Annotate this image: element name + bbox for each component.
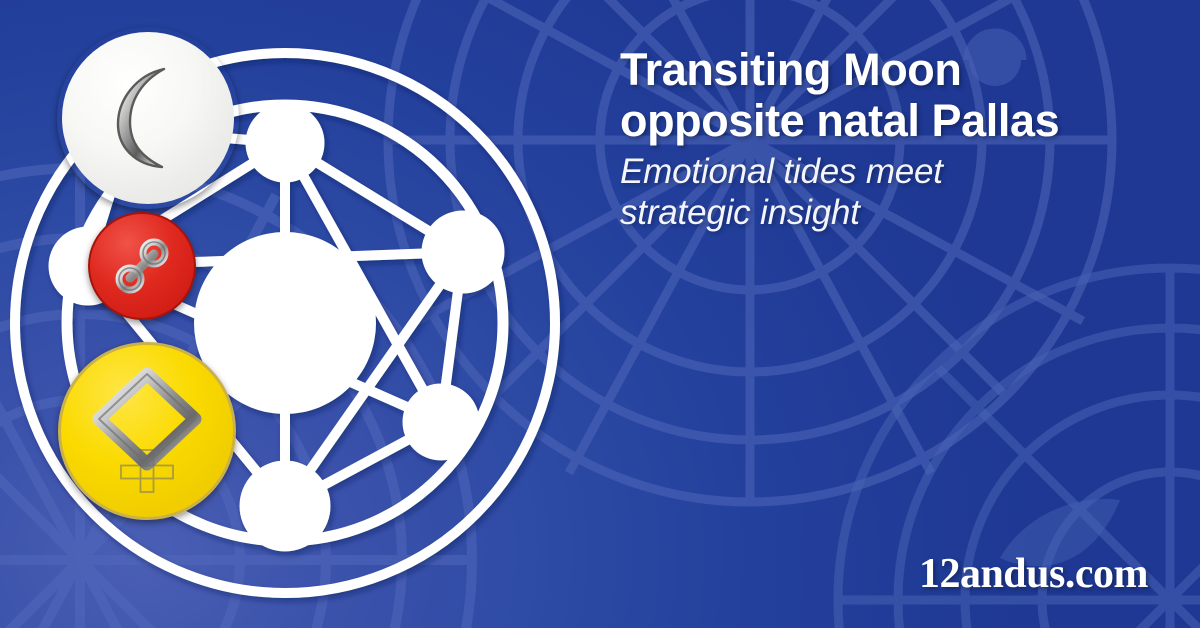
headline-line-1: Transiting Moon [620, 44, 961, 95]
moon-badge [57, 27, 239, 209]
subheadline-line-1: Emotional tides meet [620, 152, 943, 191]
brand-logo[interactable]: 12andus.com [919, 550, 1148, 598]
node-bottom [245, 466, 325, 546]
subheadline-line-2: strategic insight [620, 193, 860, 232]
node-lower-right [408, 389, 474, 455]
headline: Transiting Moon opposite natal Pallas [620, 44, 1180, 146]
node-upper-right [427, 216, 499, 288]
pallas-badge [58, 342, 236, 520]
subheadline: Emotional tides meet strategic insight [620, 151, 1180, 233]
pallas-icon [85, 364, 209, 498]
text-block: Transiting Moon opposite natal Pallas Em… [620, 44, 1180, 233]
node-top [251, 109, 319, 177]
opposition-badge [88, 212, 196, 320]
opposition-icon [109, 233, 175, 299]
headline-line-2: opposite natal Pallas [620, 95, 1059, 146]
moon-icon [92, 62, 204, 174]
poster-canvas: Transiting Moon opposite natal Pallas Em… [0, 0, 1200, 628]
